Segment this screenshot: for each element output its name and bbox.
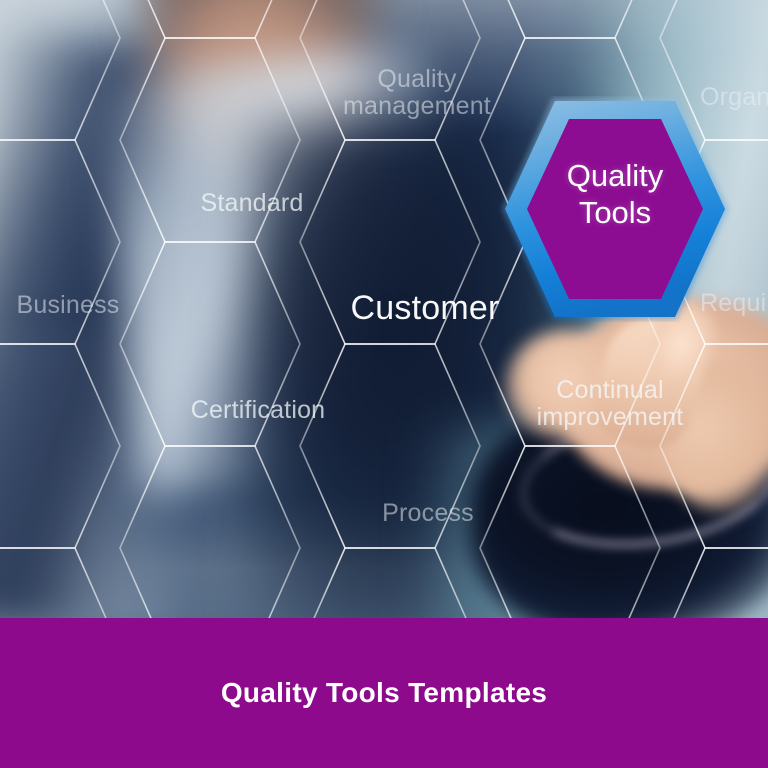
image-canvas: Quality management Organ Standard Busine…: [0, 0, 768, 768]
highlighted-hexagon-label: Quality Tools: [497, 158, 733, 231]
banner-title: Quality Tools Templates: [221, 677, 547, 709]
highlighted-hexagon[interactable]: Quality Tools: [497, 96, 733, 322]
footer-banner: Quality Tools Templates: [0, 618, 768, 768]
background-photo: Quality management Organ Standard Busine…: [0, 0, 768, 618]
